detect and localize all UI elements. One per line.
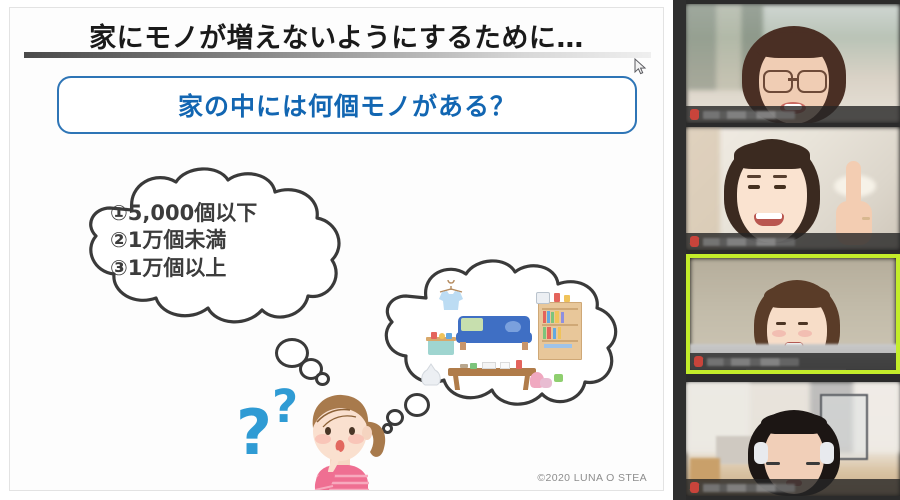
mute-icon (694, 356, 703, 367)
participant-tile-2[interactable] (686, 127, 900, 250)
participant-tile-3[interactable] (686, 254, 900, 374)
question-text: 家の中には何個モノがある？ (178, 87, 516, 123)
mouse-cursor-icon (634, 58, 648, 76)
title-divider (24, 52, 651, 58)
participant-name-bar-3 (690, 353, 896, 370)
copyright-notice: ©2020 LUNA O STEA (537, 472, 647, 484)
participant-name-2 (703, 238, 795, 246)
answer-option-2: ②1万個未満 (110, 227, 360, 254)
participant-name-bar-4 (686, 479, 900, 496)
participant-name-4 (703, 484, 795, 492)
question-callout-box: 家の中には何個モノがある？ (57, 76, 637, 134)
participant-name-1 (703, 111, 795, 119)
toy-box-icon (426, 332, 456, 358)
cluttered-room-illustration (418, 284, 598, 394)
answer-thought-cloud: ①5,000個以下 ②1万個未満 ③1万個以上 (70, 166, 375, 331)
sofa-icon (456, 316, 532, 356)
slide-title: 家にモノが増えないようにするために… (10, 16, 663, 55)
answer-option-3: ③1万個以上 (110, 255, 360, 282)
mute-icon (690, 482, 699, 493)
participant-video-rail (673, 0, 900, 500)
hanger-icon (436, 280, 466, 314)
participant-tile-4[interactable] (686, 382, 900, 496)
answer-option-1: ①5,000個以下 (110, 200, 360, 227)
participant-name-3 (707, 358, 799, 366)
mute-icon (690, 109, 699, 120)
mute-icon (690, 236, 699, 247)
answer-list: ①5,000個以下 ②1万個未満 ③1万個以上 (110, 200, 360, 282)
question-mark-large-icon: ? (236, 396, 272, 469)
presentation-slide: 家にモノが増えないようにするために… 家の中には何個モノがある？ ①5,000個… (9, 7, 664, 491)
shared-screen-region[interactable]: 家にモノが増えないようにするために… 家の中には何個モノがある？ ①5,000個… (0, 0, 673, 500)
trash-bag-icon (418, 362, 444, 388)
rail-gutter (673, 0, 686, 500)
floor-clutter (530, 372, 566, 392)
coffee-table-icon (448, 362, 536, 392)
video-feed-2 (686, 127, 900, 250)
room-thought-cloud (378, 256, 633, 416)
thinking-woman-illustration (290, 386, 395, 491)
participant-name-bar-2 (686, 233, 900, 250)
participant-name-bar-1 (686, 106, 900, 123)
bookshelf-icon (538, 302, 582, 360)
participant-tile-1[interactable] (686, 4, 900, 123)
meeting-screen: 家にモノが増えないようにするために… 家の中には何個モノがある？ ①5,000個… (0, 0, 900, 500)
